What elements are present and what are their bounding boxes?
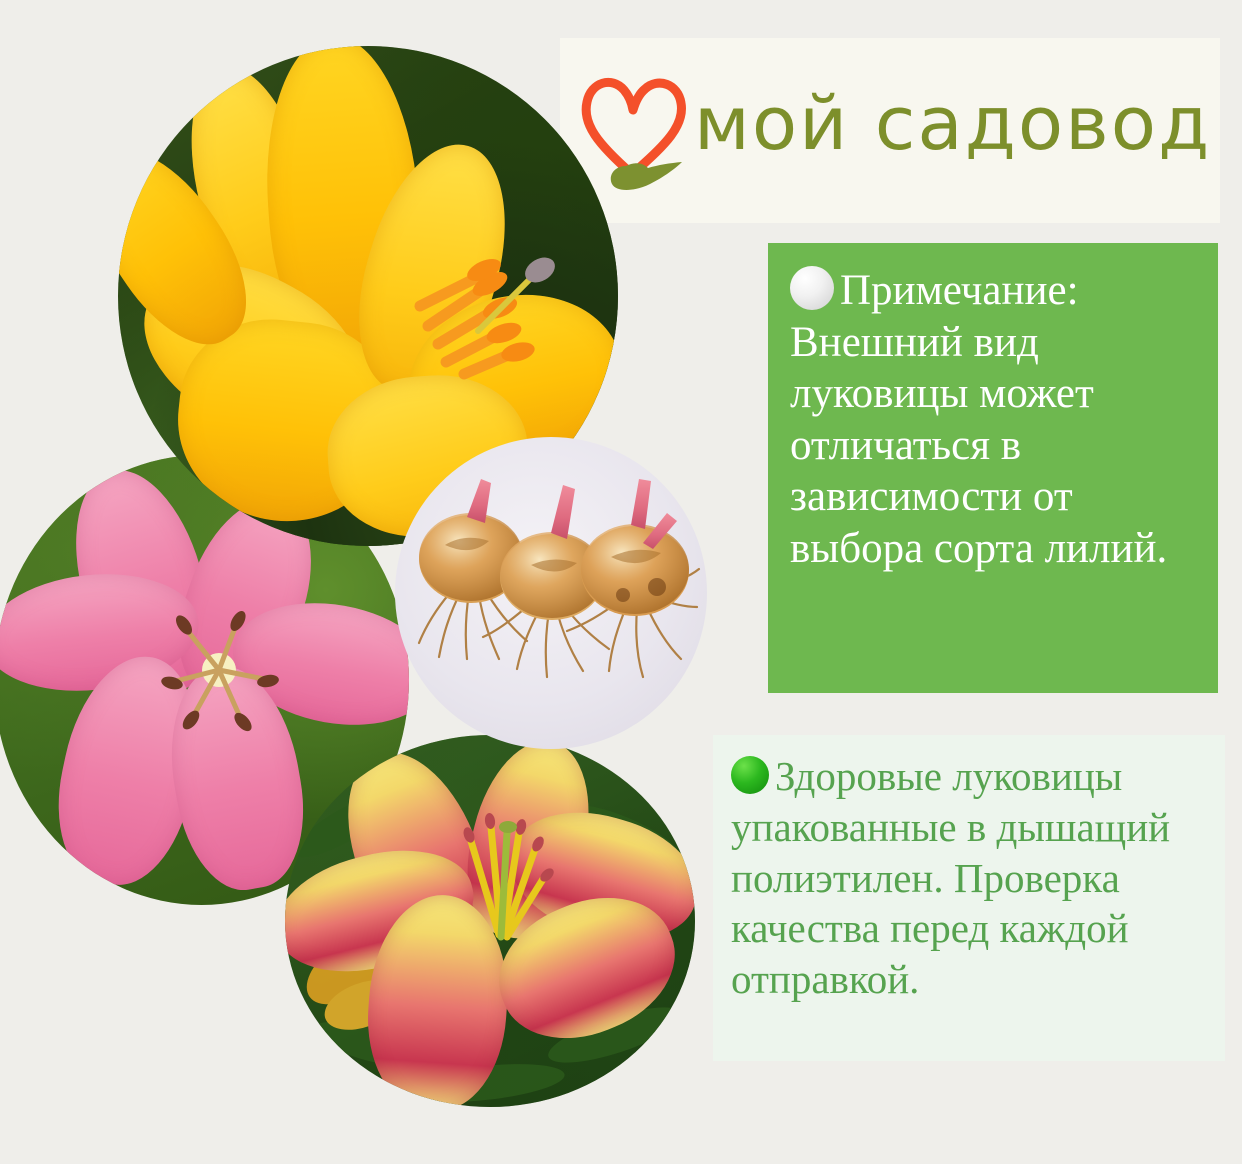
brand-name-text: мой садовод (694, 87, 1211, 161)
note-green-text: Примечание: Внешний вид луковицы может о… (790, 267, 1167, 572)
logo-panel: мой садовод (560, 38, 1220, 223)
stamens-decor (368, 196, 598, 426)
note-light-text: Здоровые луковицы упакованные в дышащий … (731, 753, 1170, 1002)
green-circle-bullet-icon (731, 756, 769, 794)
note-light-paragraph: Здоровые луковицы упакованные в дышащий … (731, 751, 1209, 1005)
lily-bulbs-photo (395, 437, 707, 749)
white-circle-bullet-icon (790, 266, 834, 310)
bicolor-lily-photo (285, 735, 695, 1107)
brand-logo[interactable]: мой садовод (578, 66, 1211, 194)
note-green-box: Примечание: Внешний вид луковицы может о… (768, 243, 1218, 693)
bulbs-illustration (395, 437, 707, 749)
stamens-decor (415, 775, 595, 975)
note-green-paragraph: Примечание: Внешний вид луковицы может о… (790, 265, 1200, 575)
promo-banner: мой садовод (0, 0, 1242, 1164)
note-light-box: Здоровые луковицы упакованные в дышащий … (713, 735, 1225, 1061)
